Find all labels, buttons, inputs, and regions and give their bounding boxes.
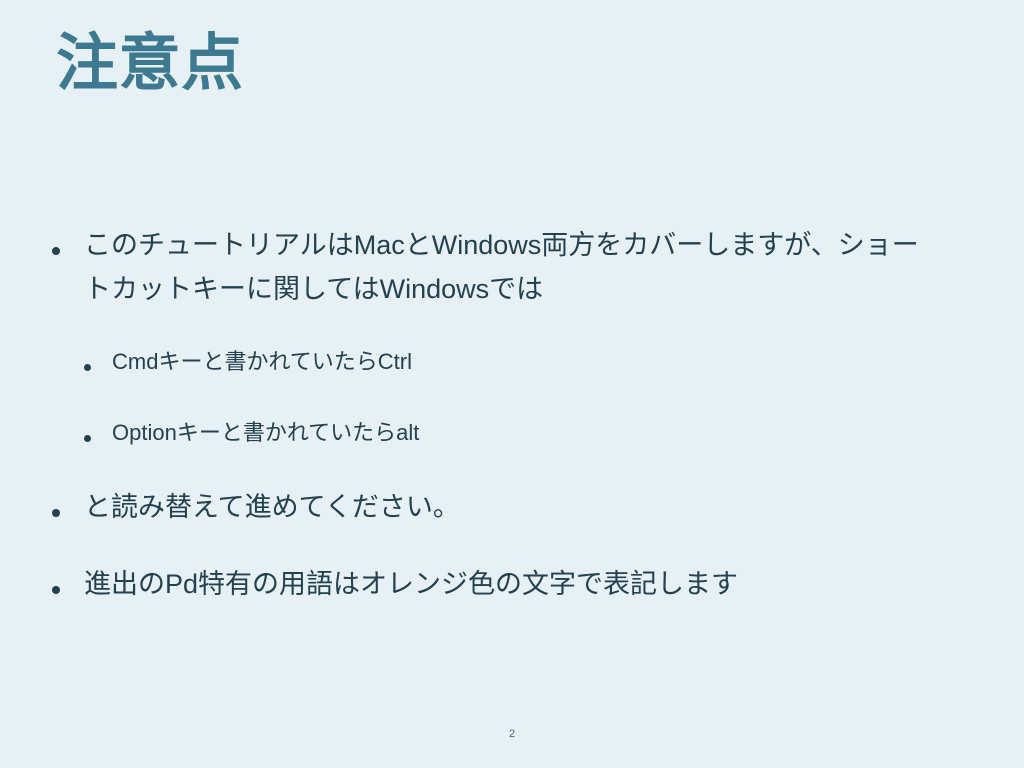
bullet-dot-icon (84, 345, 112, 375)
bullet-dot-icon (52, 224, 84, 260)
list-item: Cmdキーと書かれていたらCtrl (0, 345, 1024, 379)
list-item-label: 進出のPd特有の用語はオレンジ色の文字で表記します (84, 563, 924, 607)
list-item: このチュートリアルはMacとWindows両方をカバーしますが、ショートカットキ… (0, 224, 1024, 311)
list-item: 進出のPd特有の用語はオレンジ色の文字で表記します (0, 563, 1024, 607)
slide-canvas: 注意点 このチュートリアルはMacとWindows両方をカバーしますが、ショート… (0, 0, 1024, 768)
list-item: と読み替えて進めてください。 (0, 486, 1024, 530)
list-item-label: このチュートリアルはMacとWindows両方をカバーしますが、ショートカットキ… (84, 224, 924, 311)
list-item: Optionキーと書かれていたらalt (0, 416, 1024, 450)
bullet-dot-icon (84, 416, 112, 446)
page-number: 2 (0, 728, 1024, 740)
bullet-dot-icon (52, 563, 84, 599)
bullet-list: このチュートリアルはMacとWindows両方をカバーしますが、ショートカットキ… (0, 224, 1024, 641)
bullet-dot-icon (52, 486, 84, 522)
list-item-label: Cmdキーと書かれていたらCtrl (112, 345, 912, 379)
list-item-label: Optionキーと書かれていたらalt (112, 416, 912, 450)
page-title: 注意点 (56, 28, 244, 99)
list-item-label: と読み替えて進めてください。 (84, 486, 924, 530)
